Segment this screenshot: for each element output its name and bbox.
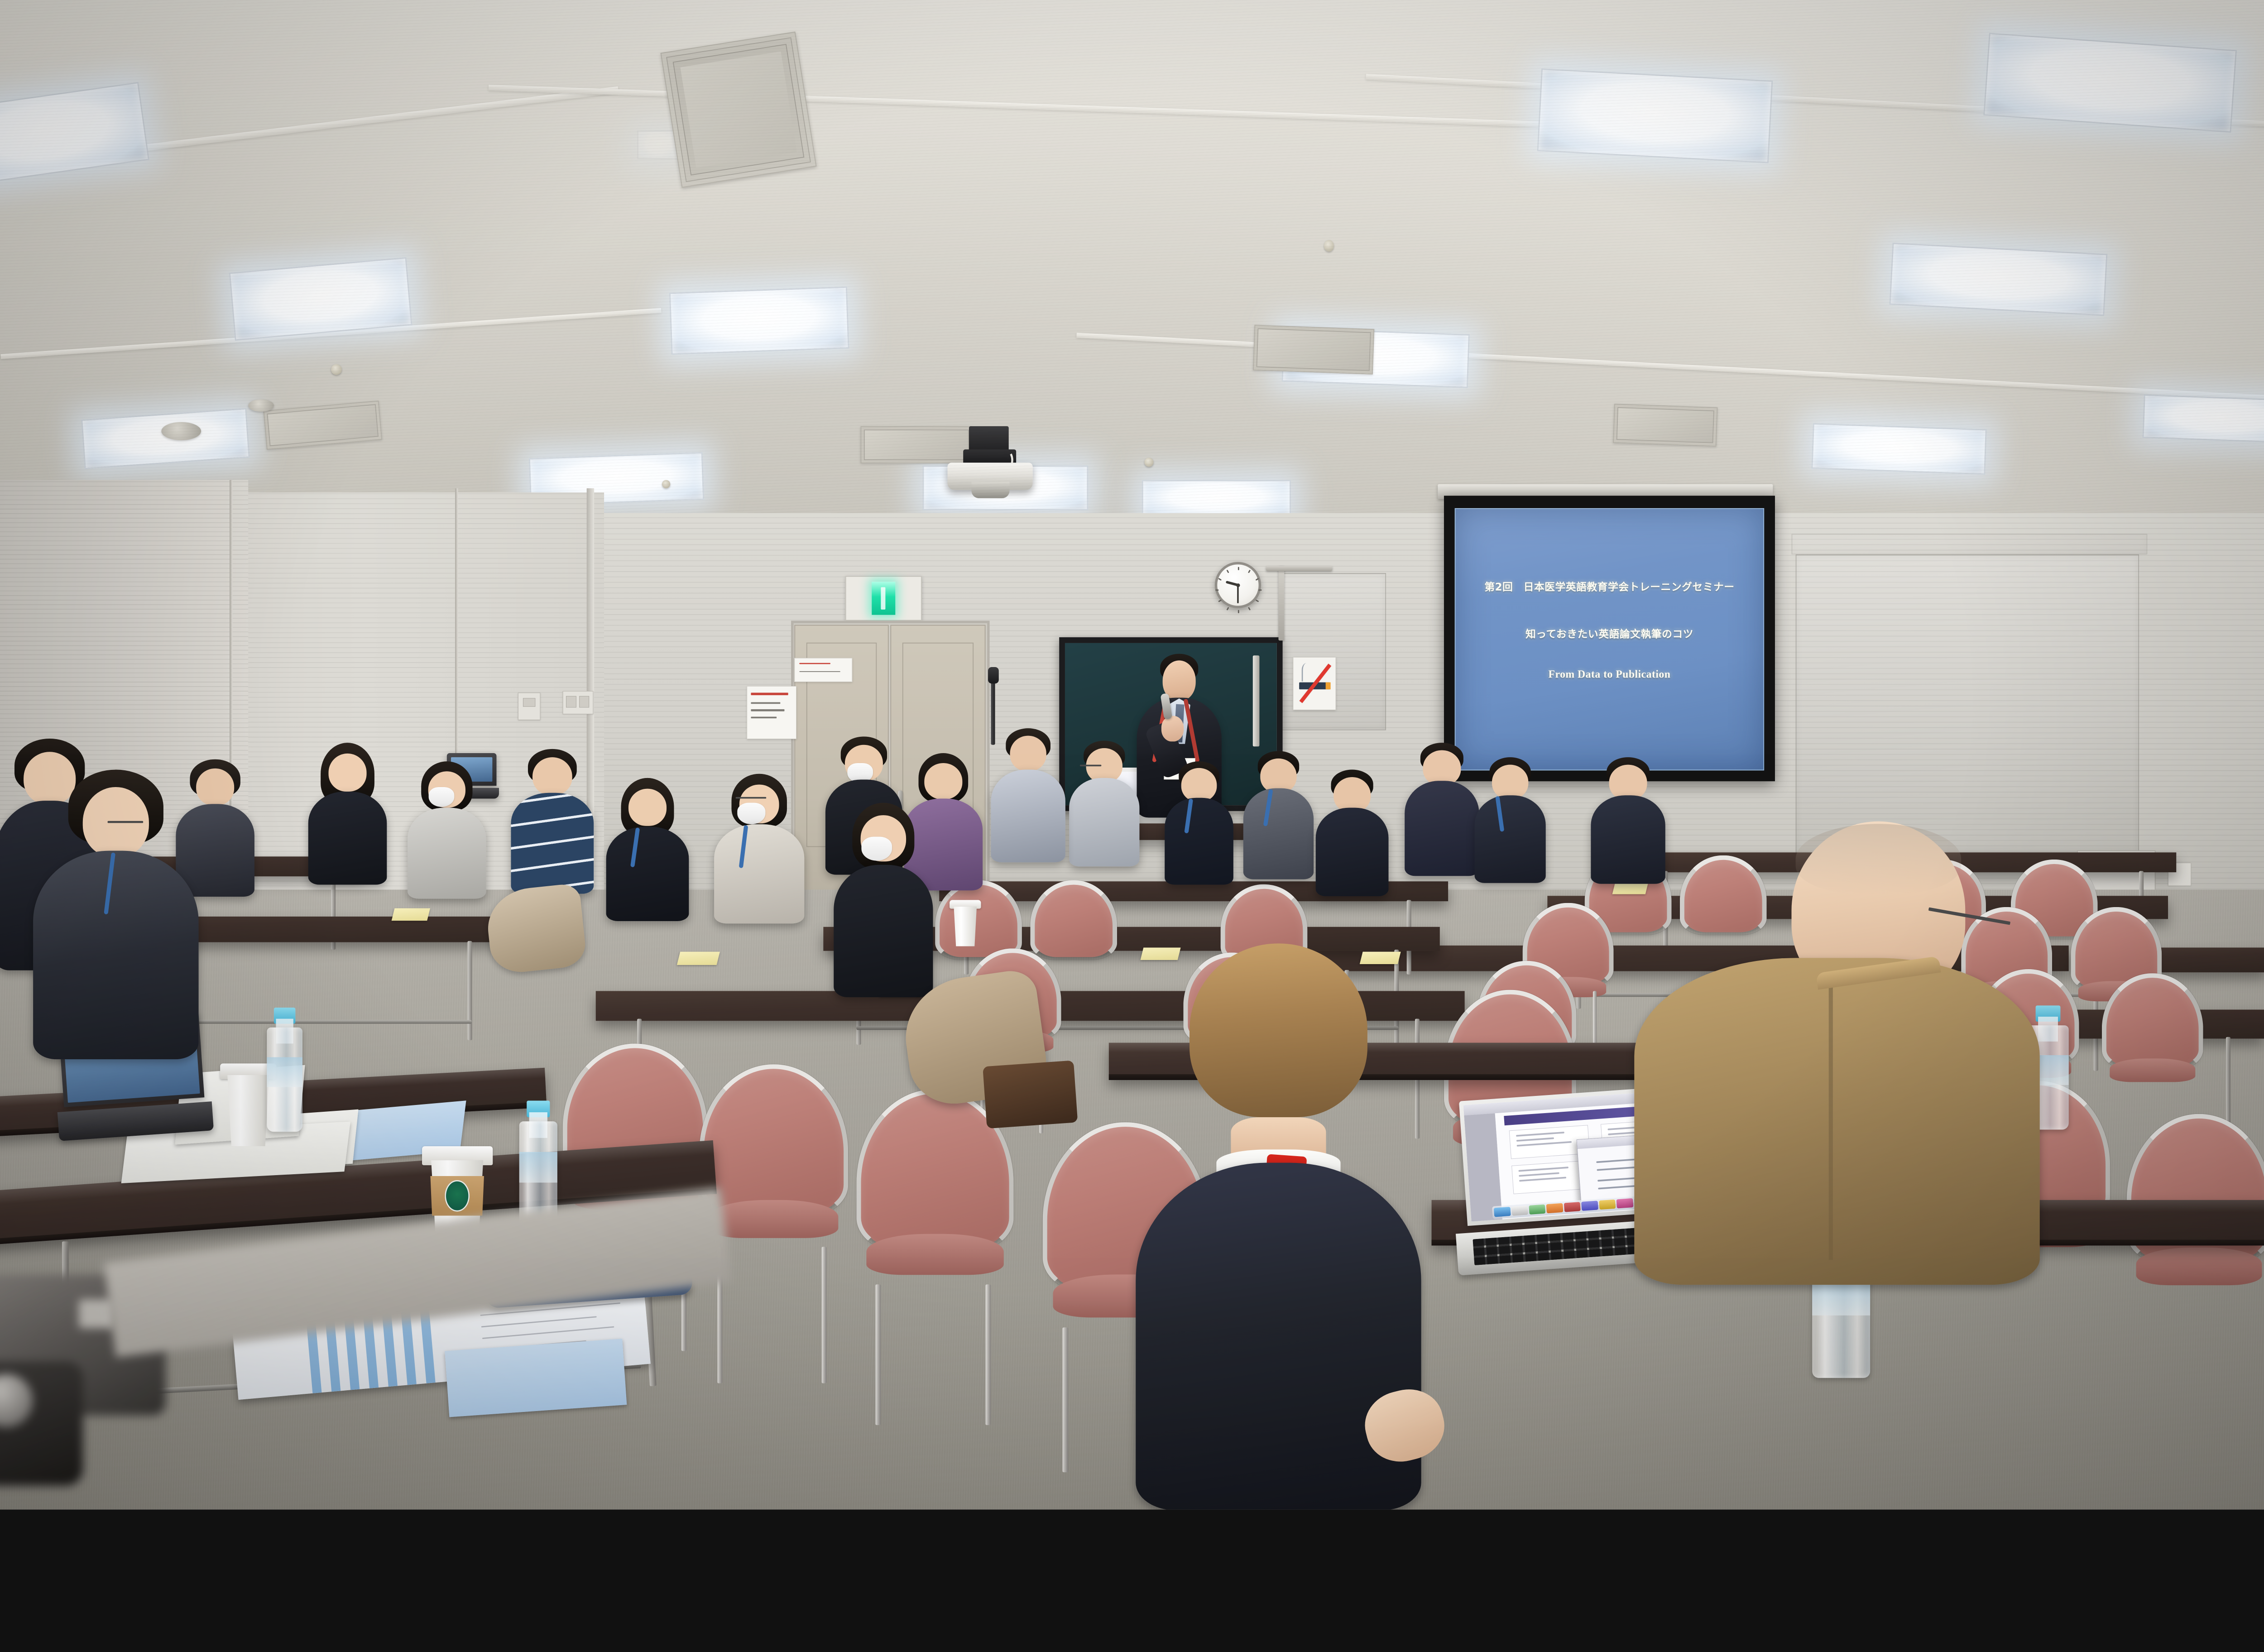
- ceiling-light-panel: [923, 466, 1088, 510]
- ceiling-light-panel: [669, 287, 849, 355]
- audience-member: [989, 728, 1068, 860]
- wall-poster: [747, 686, 796, 739]
- audience-member: [1241, 751, 1315, 875]
- starbucks-siren-logo: [445, 1180, 470, 1212]
- name-card: [677, 952, 720, 965]
- audience-member: [1473, 757, 1547, 881]
- slide-line-3: From Data to Publication: [1455, 668, 1764, 680]
- smoke-detector: [248, 399, 274, 412]
- air-vent: [661, 32, 817, 188]
- audience-member: [405, 761, 488, 898]
- ceiling-light-panel: [1282, 328, 1470, 388]
- ceiling-light-panel: [1537, 68, 1773, 163]
- attendee-hair: [1190, 943, 1367, 1117]
- clock-minute-hand: [1237, 585, 1239, 603]
- chair[interactable]: [703, 1067, 844, 1214]
- projection-screen: 第2回 日本医学英語教育学会トレーニングセミナー 知っておきたい英語論文執筆のコ…: [1444, 496, 1775, 781]
- presenter-hand: [1161, 716, 1184, 742]
- attendee-blond-suit: [1134, 943, 1424, 1509]
- exit-sign-light: [872, 582, 896, 615]
- ceiling: [0, 0, 2264, 550]
- air-vent: [263, 400, 382, 450]
- audience-member: [604, 778, 691, 919]
- attendee-torso: [1634, 958, 2039, 1285]
- sprinkler-head: [1324, 240, 1334, 252]
- air-vent: [861, 426, 973, 463]
- emergency-exit-sign: [845, 576, 922, 621]
- smoke-detector: [161, 422, 201, 440]
- bag-under-table: [983, 1060, 1078, 1129]
- board-rail: [1266, 566, 1332, 571]
- air-vent: [1253, 325, 1374, 375]
- audience-member: [306, 743, 389, 884]
- ceiling-light-panel: [0, 82, 149, 187]
- sprinkler-head: [331, 364, 342, 375]
- audience-member: [509, 749, 596, 894]
- wall-poster: [794, 658, 852, 682]
- audience-member: [1163, 761, 1235, 881]
- ceiling-light-panel: [1983, 33, 2237, 133]
- paper-cup[interactable]: [223, 1063, 273, 1146]
- ceiling-light-panel: [229, 257, 413, 341]
- microphone-head: [988, 667, 999, 684]
- air-vent: [1613, 404, 1717, 447]
- paper-cup[interactable]: [952, 900, 979, 946]
- sprinkler-head: [1144, 458, 1153, 467]
- wall-clock: [1215, 562, 1261, 608]
- ceiling-light-panel: [81, 408, 249, 469]
- chair[interactable]: [2106, 976, 2199, 1067]
- slide-line-2: 知っておきたい英語論文執筆のコツ: [1455, 626, 1764, 641]
- audience-member: [832, 803, 935, 997]
- board-rail: [1278, 566, 1284, 640]
- outlet-plate[interactable]: [563, 691, 594, 714]
- light-switch-plate[interactable]: [518, 693, 540, 720]
- face-mask: [737, 803, 765, 825]
- ceiling-light-panel: [1142, 480, 1291, 517]
- water-bottle[interactable]: [267, 1008, 302, 1132]
- wall-panel: [1792, 534, 2148, 555]
- ceiling-light-panel: [2143, 394, 2264, 443]
- audience-member: [712, 774, 807, 923]
- ceiling-light-panel: [1812, 423, 1987, 475]
- ceiling-light-panel: [1890, 243, 2108, 316]
- audience-member: [1314, 770, 1390, 894]
- no-smoking-sign: [1293, 657, 1336, 710]
- attendee-tan-jacket: [1638, 821, 2052, 1285]
- face-mask: [429, 787, 455, 807]
- blue-sheet-under-booklet: [445, 1339, 627, 1417]
- attendee-torso: [1136, 1163, 1421, 1510]
- name-card: [392, 908, 430, 921]
- slide-line-1: 第2回 日本医学英語教育学会トレーニングセミナー: [1455, 579, 1764, 594]
- chair[interactable]: [1034, 884, 1113, 957]
- projected-slide: 第2回 日本医学英語教育学会トレーニングセミナー 知っておきたい英語論文執筆のコ…: [1455, 508, 1764, 770]
- speaker-pole: [1253, 655, 1260, 746]
- ceiling-light-panel: [637, 130, 678, 159]
- seminar-room-photo: 第2回 日本医学英語教育学会トレーニングセミナー 知っておきたい英語論文執筆のコ…: [0, 0, 2264, 1509]
- attendee-dark-suit-front: [29, 770, 203, 1060]
- sprinkler-head: [662, 480, 670, 488]
- audience-member: [1067, 741, 1141, 865]
- audience-member: [1403, 743, 1482, 875]
